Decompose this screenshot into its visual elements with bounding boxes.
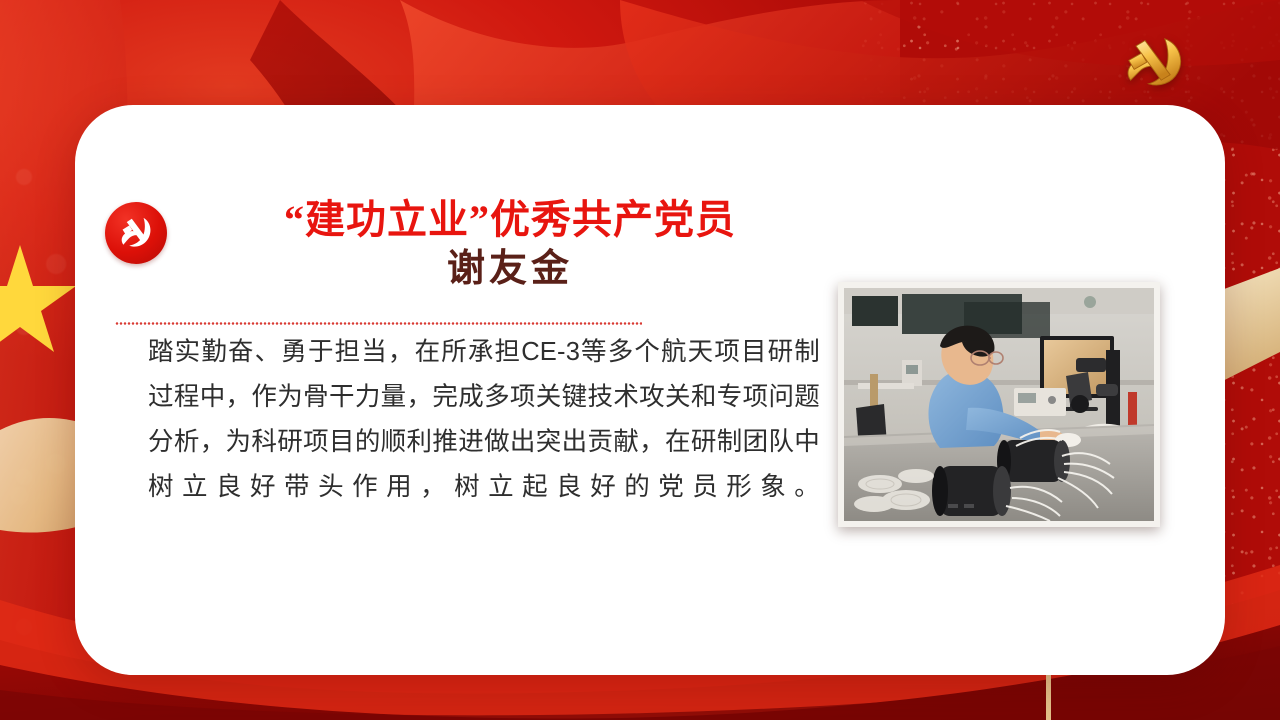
person-photo — [844, 288, 1154, 521]
title-block: “建功立业”优秀共产党员 谢友金 — [190, 198, 830, 292]
photo-frame — [838, 282, 1160, 527]
description-text: 踏实勤奋、勇于担当，在所承担CE-3等多个航天项目研制过程中，作为骨干力量，完成… — [148, 330, 820, 510]
page-title: “建功立业”优秀共产党员 — [190, 198, 830, 243]
person-name: 谢友金 — [190, 247, 830, 293]
dotted-divider — [115, 322, 642, 325]
hammer-sickle-badge — [105, 202, 167, 264]
slide-stage: “建功立业”优秀共产党员 谢友金 踏实勤奋、勇于担当，在所承担CE-3等多个航天… — [0, 0, 1280, 720]
description-paragraph: 踏实勤奋、勇于担当，在所承担CE-3等多个航天项目研制过程中，作为骨干力量，完成… — [148, 330, 820, 510]
party-emblem-icon — [1108, 28, 1200, 100]
hammer-sickle-icon — [115, 212, 157, 254]
